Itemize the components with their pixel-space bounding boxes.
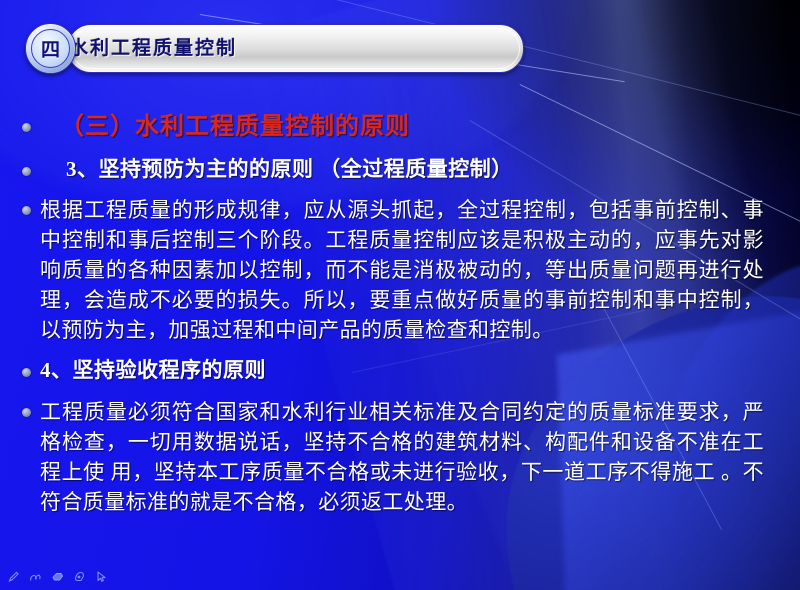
badge-number: 四 (26, 24, 75, 73)
ink-color-icon[interactable] (72, 569, 87, 584)
bullet-block-point-4-heading: 4、坚持验收程序的原则 (14, 357, 794, 384)
bullet-icon (22, 206, 31, 215)
bullet-block-point-3-heading: 3、坚持预防为主的的原则 （全过程质量控制） (14, 156, 794, 183)
eraser-icon[interactable] (50, 569, 65, 584)
bullet-icon (22, 408, 31, 417)
pointer-icon[interactable] (94, 569, 109, 584)
point-4-body-text: 工程质量必须符合国家和水利行业相关标准及合同约定的质量标准要求，严格检查，一切用… (40, 397, 794, 517)
bullet-icon (22, 167, 31, 176)
bullet-block-section-heading: （三）水利工程质量控制的原则 (14, 112, 794, 142)
highlighter-icon[interactable] (28, 569, 43, 584)
section-heading-text: （三）水利工程质量控制的原则 (40, 112, 794, 142)
slide-content: （三）水利工程质量控制的原则 3、坚持预防为主的的原则 （全过程质量控制） 根据… (14, 98, 794, 519)
bullet-icon (22, 368, 31, 377)
point-4-heading-text: 4、坚持验收程序的原则 (40, 357, 794, 384)
bullet-block-point-3-body: 根据工程质量的形成规律，应从源头抓起，全过程控制，包括事前控制、事中控制和事后控… (14, 195, 794, 345)
annotation-toolbar[interactable] (6, 569, 109, 584)
slide-canvas: 水利工程质量控制 四 （三）水利工程质量控制的原则 3、坚持预防为主的的原则 （… (0, 0, 800, 590)
bullet-block-point-4-body: 工程质量必须符合国家和水利行业相关标准及合同约定的质量标准要求，严格检查，一切用… (14, 397, 794, 517)
section-number-badge: 四 (25, 23, 76, 74)
point-3-body-text: 根据工程质量的形成规律，应从源头抓起，全过程控制，包括事前控制、事中控制和事后控… (40, 195, 794, 345)
page-title: 水利工程质量控制 (69, 33, 237, 60)
pen-icon[interactable] (6, 569, 21, 584)
point-3-heading-text: 3、坚持预防为主的的原则 （全过程质量控制） (40, 156, 794, 183)
slide-header-banner: 水利工程质量控制 四 (25, 24, 522, 71)
bullet-icon (22, 123, 31, 132)
